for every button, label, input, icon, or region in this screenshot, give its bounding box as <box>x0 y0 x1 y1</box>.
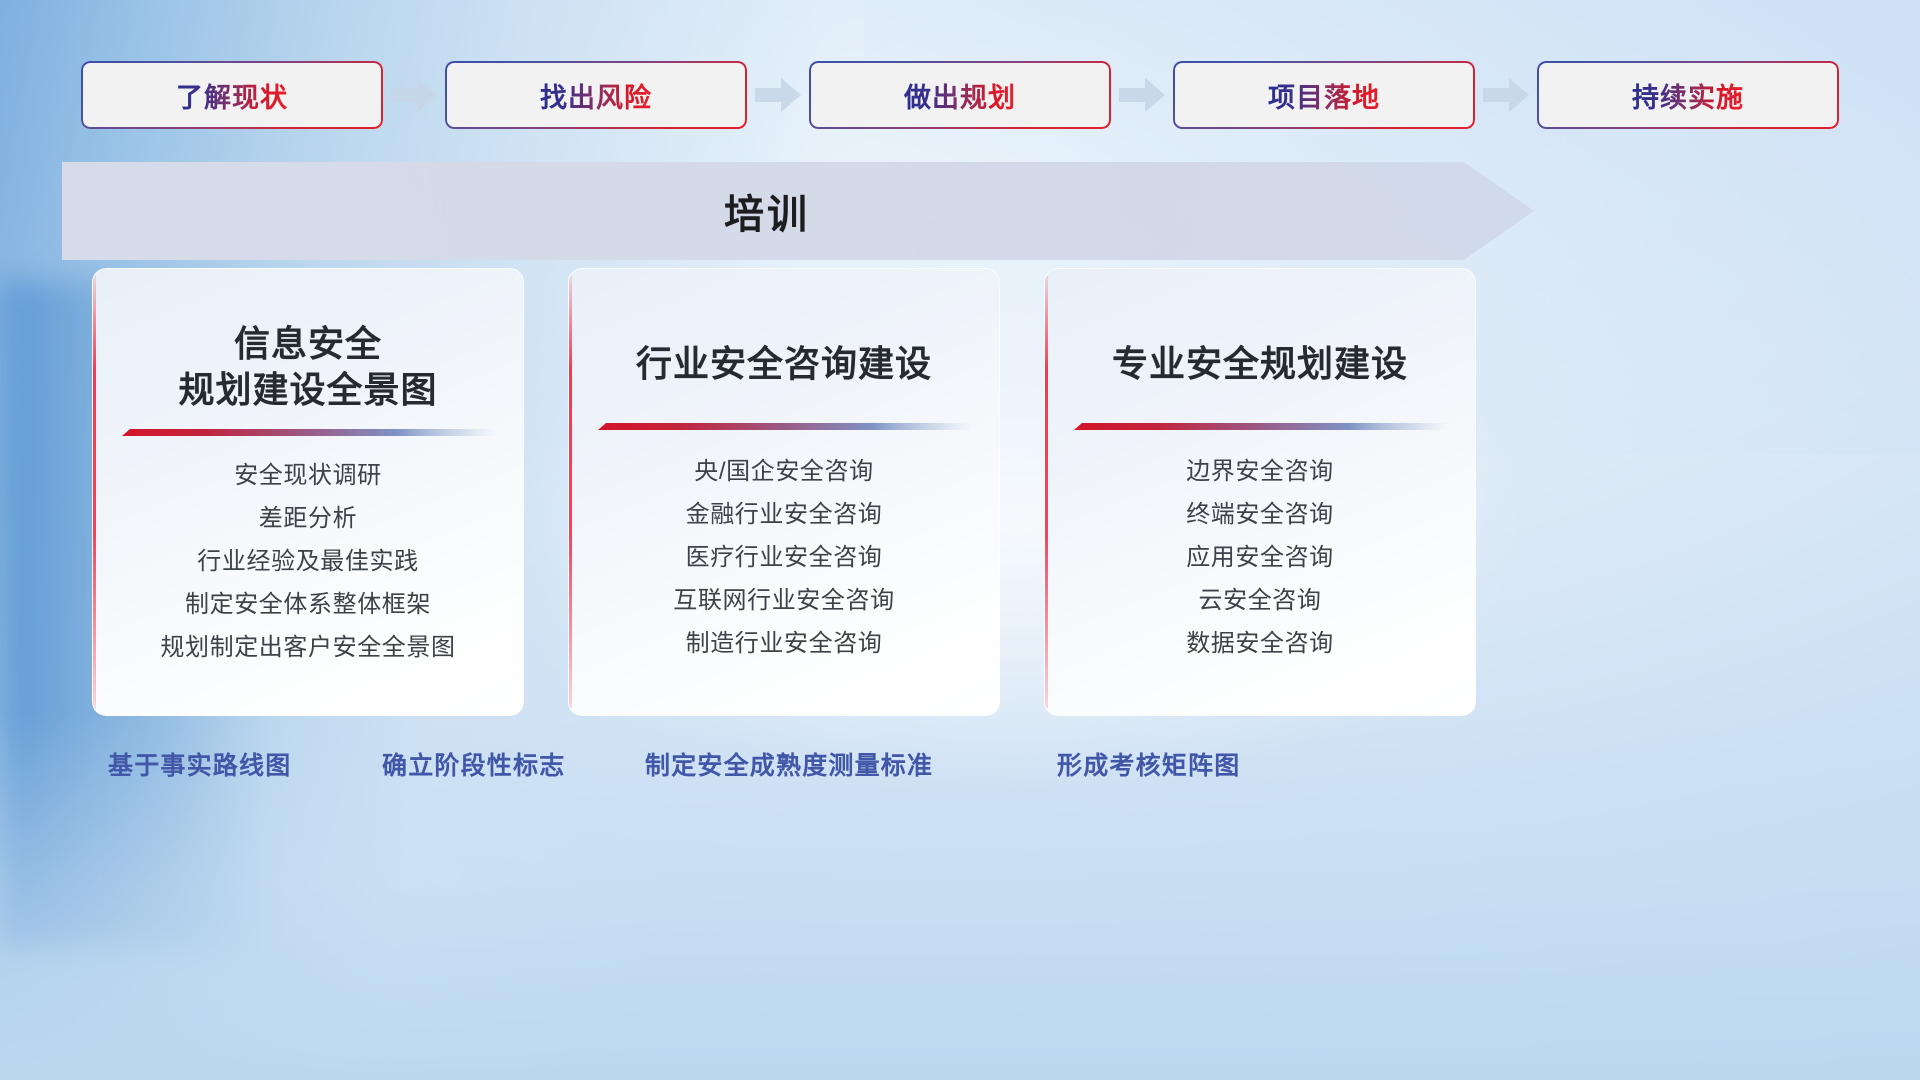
card-1-list-item: 规划制定出客户安全全景图 <box>160 636 455 660</box>
card-1-title-line-2: 规划建设全景图 <box>178 367 437 413</box>
card-2-list-item: 央/国企安全咨询 <box>694 460 873 484</box>
card-3-list-item: 边界安全咨询 <box>1186 460 1334 484</box>
training-banner: 培训 <box>62 162 1534 260</box>
card-3-list-item: 云安全咨询 <box>1199 589 1322 613</box>
card-2-title-line-1: 行业安全咨询建设 <box>636 341 932 387</box>
card-information-security-panorama[interactable]: 信息安全 规划建设全景图 <box>92 268 524 716</box>
process-step-4[interactable]: 项目落地 <box>1173 61 1475 129</box>
card-2-left-accent-bar <box>569 275 572 709</box>
footer-label-row: 基于事实路线图 确立阶段性标志 制定安全成熟度测量标准 形成考核矩阵图 <box>0 746 1920 792</box>
card-3-title-line-1: 专业安全规划建设 <box>1112 341 1408 387</box>
card-row: 信息安全 规划建设全景图 <box>0 268 1920 728</box>
card-1-list-item: 安全现状调研 <box>234 464 382 488</box>
footer-label-assessment-matrix: 形成考核矩阵图 <box>1057 746 1240 782</box>
process-step-3-label: 做出规划 <box>904 76 1016 115</box>
card-1-list-item: 行业经验及最佳实践 <box>197 550 418 574</box>
card-3-list-item: 数据安全咨询 <box>1186 632 1334 656</box>
process-step-2[interactable]: 找出风险 <box>445 61 747 129</box>
footer-label-milestones: 确立阶段性标志 <box>382 746 565 782</box>
card-2-list-item: 金融行业安全咨询 <box>686 503 883 527</box>
process-step-5-label: 持续实施 <box>1632 76 1744 115</box>
card-3-divider <box>1074 423 1446 432</box>
process-arrow-2 <box>747 61 809 129</box>
card-2-list-item: 互联网行业安全咨询 <box>673 589 894 613</box>
card-2-list-item: 制造行业安全咨询 <box>686 632 883 656</box>
footer-label-maturity-standard: 制定安全成熟度测量标准 <box>645 746 933 782</box>
process-arrow-1 <box>383 61 445 129</box>
card-3-list-item: 终端安全咨询 <box>1186 503 1334 527</box>
card-2-divider <box>598 423 970 432</box>
card-1-surface: 信息安全 规划建设全景图 <box>92 268 524 716</box>
process-arrow-4 <box>1475 61 1537 129</box>
process-step-1-label: 了解现状 <box>176 76 288 115</box>
card-2-item-list: 央/国企安全咨询 金融行业安全咨询 医疗行业安全咨询 互联网行业安全咨询 制造行… <box>569 460 999 675</box>
process-step-1[interactable]: 了解现状 <box>81 61 383 129</box>
card-professional-security-planning[interactable]: 专业安全规划建设 <box>1044 268 1476 716</box>
card-1-title: 信息安全 规划建设全景图 <box>178 269 437 413</box>
training-banner-label: 培训 <box>62 162 1472 260</box>
card-1-list-item: 制定安全体系整体框架 <box>185 593 431 617</box>
card-1-left-accent-bar <box>93 275 96 709</box>
process-step-5[interactable]: 持续实施 <box>1537 61 1839 129</box>
process-arrow-3 <box>1111 61 1173 129</box>
card-1-divider <box>122 429 494 438</box>
process-step-row: 了解现状 找出风险 做出规划 项目落地 持续实施 <box>0 60 1920 130</box>
card-3-list-item: 应用安全咨询 <box>1186 546 1334 570</box>
card-1-item-list: 安全现状调研 差距分析 行业经验及最佳实践 制定安全体系整体框架 规划制定出客户… <box>93 464 523 679</box>
card-3-item-list: 边界安全咨询 终端安全咨询 应用安全咨询 云安全咨询 数据安全咨询 <box>1045 460 1475 675</box>
footer-label-roadmap: 基于事实路线图 <box>108 746 291 782</box>
card-3-left-accent-bar <box>1045 275 1048 709</box>
card-2-title: 行业安全咨询建设 <box>636 269 932 387</box>
process-step-2-label: 找出风险 <box>540 76 652 115</box>
process-step-4-label: 项目落地 <box>1268 76 1380 115</box>
process-step-3[interactable]: 做出规划 <box>809 61 1111 129</box>
card-2-list-item: 医疗行业安全咨询 <box>686 546 883 570</box>
card-3-title: 专业安全规划建设 <box>1112 269 1408 387</box>
card-2-surface: 行业安全咨询建设 <box>568 268 1000 716</box>
card-3-surface: 专业安全规划建设 <box>1044 268 1476 716</box>
card-1-title-line-1: 信息安全 <box>178 321 437 367</box>
card-industry-security-consulting[interactable]: 行业安全咨询建设 <box>568 268 1000 716</box>
card-1-list-item: 差距分析 <box>259 507 357 531</box>
